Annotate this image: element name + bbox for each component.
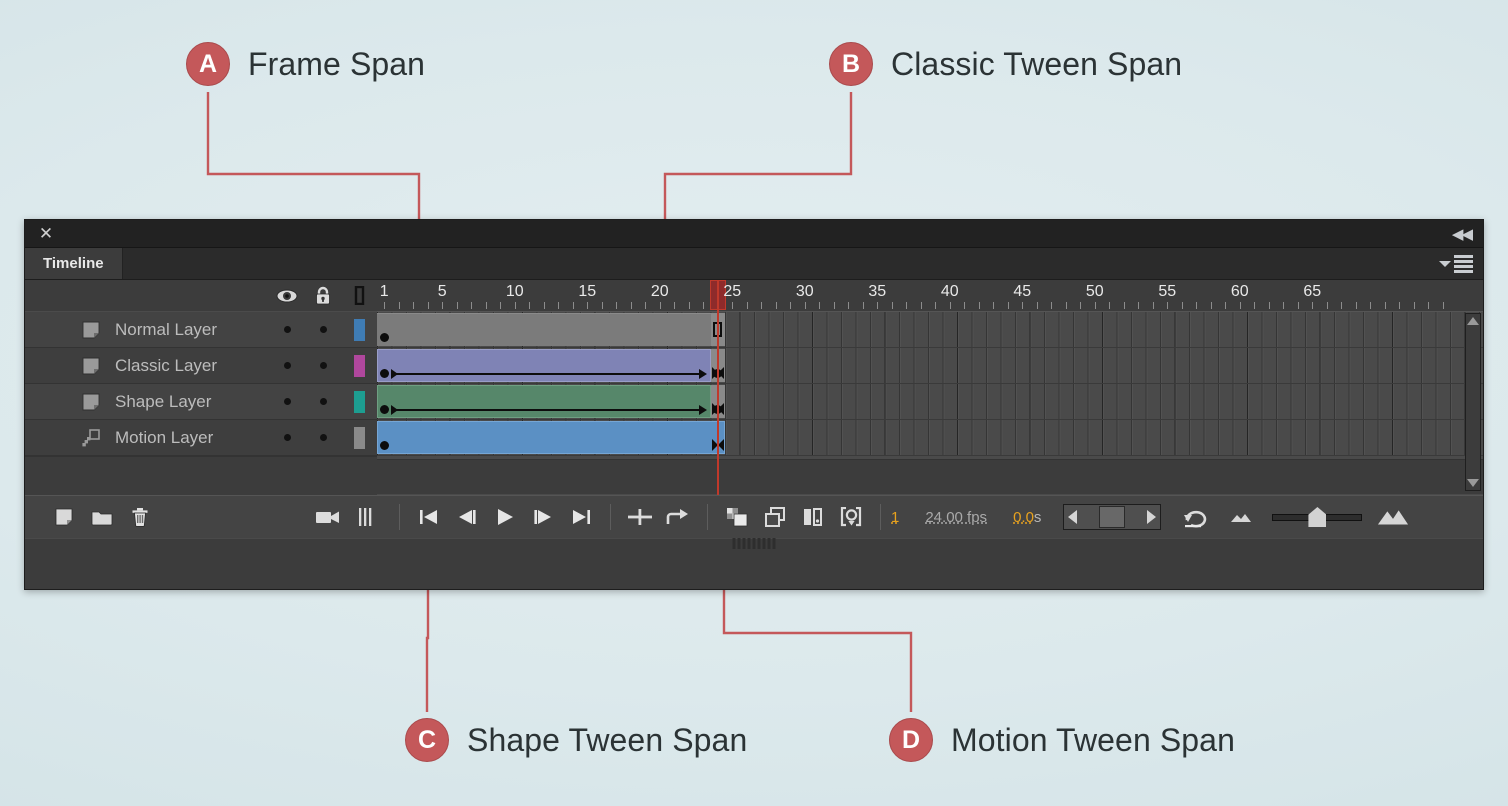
layer-name: Normal Layer <box>105 320 269 340</box>
layer-page-icon <box>77 356 105 376</box>
ruler-tick <box>805 302 806 309</box>
keyframe-marker[interactable] <box>380 369 389 378</box>
ruler-tick <box>544 302 545 309</box>
ruler-tick <box>1182 302 1183 309</box>
ruler-tick <box>500 302 501 309</box>
hamburger-icon <box>1454 255 1473 273</box>
ruler-tick <box>950 302 951 309</box>
layer-rows: Normal Layer Classic Layer Shape Layer M… <box>25 312 377 456</box>
callout-b-badge: B <box>829 42 873 86</box>
close-icon[interactable]: ✕ <box>37 225 55 243</box>
eye-icon[interactable] <box>269 289 305 303</box>
ruler-tick <box>1443 302 1444 309</box>
chevron-down-icon <box>1439 261 1451 267</box>
ruler-tick <box>1312 302 1313 309</box>
toolbar-divider-4 <box>880 504 881 530</box>
ruler-tick <box>1080 302 1081 309</box>
camera-tools-group <box>309 496 385 538</box>
tab-timeline-label: Timeline <box>43 255 104 272</box>
ruler-tick <box>1066 302 1067 309</box>
play-icon[interactable] <box>489 501 521 533</box>
scroll-up-arrow-icon[interactable] <box>1467 317 1479 325</box>
keyframe-marker[interactable] <box>380 441 389 450</box>
frame-row[interactable] <box>377 420 1483 456</box>
ruler-tick <box>529 302 530 309</box>
ruler-tick <box>1109 302 1110 309</box>
layers-empty-area <box>25 456 377 491</box>
ruler-tick <box>1414 302 1415 309</box>
outline-icon[interactable] <box>341 286 377 305</box>
callout-c-badge: C <box>405 718 449 762</box>
ruler-tick <box>1124 302 1125 309</box>
ruler-label: 1 <box>380 283 389 301</box>
ruler-tick <box>1095 302 1096 309</box>
layer-motion-icon <box>77 428 105 448</box>
span-motion[interactable] <box>377 421 725 454</box>
ruler-tick <box>834 302 835 309</box>
ruler-tick <box>384 302 385 309</box>
ruler-tick <box>877 302 878 309</box>
callout-b: B Classic Tween Span <box>829 42 1182 86</box>
keyframe-marker[interactable] <box>380 333 389 342</box>
panel-resize-strip[interactable] <box>25 538 1483 552</box>
panel-titlebar: ✕ ◀◀ <box>25 220 1483 248</box>
ruler-tick <box>1225 302 1226 309</box>
ruler-tick <box>1327 302 1328 309</box>
tab-timeline[interactable]: Timeline <box>25 248 123 279</box>
tween-arrow <box>391 369 707 379</box>
ruler-tick <box>1138 302 1139 309</box>
ruler-label: 65 <box>1303 283 1321 301</box>
layer-row[interactable]: Classic Layer <box>25 348 377 384</box>
panel-tabbar: Timeline <box>25 248 1483 280</box>
ruler-label: 30 <box>796 283 814 301</box>
ruler-label: 25 <box>723 283 741 301</box>
ruler-tick <box>1211 302 1212 309</box>
ruler-tick <box>863 302 864 309</box>
ruler-tick <box>921 302 922 309</box>
ruler-tick <box>616 302 617 309</box>
step-forward-one-frame-icon[interactable] <box>527 501 559 533</box>
onion-skin-icon[interactable] <box>721 501 753 533</box>
playhead[interactable] <box>717 280 719 495</box>
ruler-tick <box>442 302 443 309</box>
layer-visibility-toggle[interactable] <box>269 398 305 405</box>
frames-column: 15101520253035404550556065 <box>377 280 1483 495</box>
ruler-label: 55 <box>1158 283 1176 301</box>
edit-multiple-frames-icon[interactable] <box>797 501 829 533</box>
ruler-label: 5 <box>438 283 447 301</box>
frame-tools-group <box>621 496 697 538</box>
layer-lock-toggle[interactable] <box>305 326 341 333</box>
callout-a-badge: A <box>186 42 230 86</box>
ruler-label: 50 <box>1086 283 1104 301</box>
ruler-tick <box>1240 302 1241 309</box>
layer-tools-group <box>45 496 159 538</box>
zoom-slider-thumb[interactable] <box>1308 507 1326 527</box>
layer-outline-color[interactable] <box>341 319 377 341</box>
fps-value[interactable]: 24.00 fps <box>925 509 987 526</box>
ruler-tick <box>602 302 603 309</box>
ruler-tick <box>1008 302 1009 309</box>
panel-menu-icon[interactable] <box>1439 255 1473 273</box>
layer-row[interactable]: Motion Layer <box>25 420 377 456</box>
scroll-down-arrow-icon[interactable] <box>1467 479 1479 487</box>
span-frame[interactable] <box>377 313 711 346</box>
ruler-tick <box>1167 302 1168 309</box>
ruler-label: 15 <box>578 283 596 301</box>
ruler-tick <box>1051 302 1052 309</box>
scrubber-group <box>1063 496 1161 538</box>
timeline-zoom-slider[interactable] <box>1272 505 1362 529</box>
ruler-tick <box>1022 302 1023 309</box>
frame-row[interactable] <box>377 348 1483 384</box>
layer-row[interactable]: Shape Layer <box>25 384 377 420</box>
go-to-last-frame-icon[interactable] <box>565 501 597 533</box>
ruler-tick <box>515 302 516 309</box>
frame-row[interactable] <box>377 384 1483 420</box>
ruler-tick <box>848 302 849 309</box>
ruler-tick <box>1428 302 1429 309</box>
ruler-tick <box>645 302 646 309</box>
ruler-tick <box>747 302 748 309</box>
layers-column: Normal Layer Classic Layer Shape Layer M… <box>25 280 377 495</box>
center-frame-icon[interactable] <box>624 501 656 533</box>
new-folder-icon[interactable] <box>86 501 118 533</box>
timeline-scrubber[interactable] <box>1063 504 1161 530</box>
tween-arrow <box>391 405 707 415</box>
ruler-tick <box>1037 302 1038 309</box>
ruler-tick <box>689 302 690 309</box>
current-frame-value[interactable]: 1 <box>891 509 899 526</box>
toolbar-divider-1 <box>399 504 400 530</box>
ruler-tick <box>1370 302 1371 309</box>
ruler-tick <box>558 302 559 309</box>
ruler-tick <box>1298 302 1299 309</box>
callout-d: D Motion Tween Span <box>889 718 1235 762</box>
lock-icon[interactable] <box>305 286 341 305</box>
panel-body: Normal Layer Classic Layer Shape Layer M… <box>25 280 1483 495</box>
collapse-double-chevron-icon[interactable]: ◀◀ <box>1452 225 1471 243</box>
ruler-tick <box>486 302 487 309</box>
timeline-panel: ✕ ◀◀ Timeline <box>24 219 1484 590</box>
scrub-right-icon[interactable] <box>1147 510 1156 524</box>
layer-page-icon <box>77 392 105 412</box>
ruler-tick <box>573 302 574 309</box>
go-to-first-frame-icon[interactable] <box>413 501 445 533</box>
layer-lock-toggle[interactable] <box>305 362 341 369</box>
layer-outline-color[interactable] <box>341 391 377 413</box>
layers-column-header <box>25 280 377 312</box>
layer-outline-color[interactable] <box>341 427 377 449</box>
callout-b-label: Classic Tween Span <box>891 46 1182 83</box>
ruler-tick <box>1283 302 1284 309</box>
ruler-tick <box>471 302 472 309</box>
frames-empty-area <box>377 459 1483 494</box>
layer-lock-toggle[interactable] <box>305 434 341 441</box>
ruler-tick <box>1385 302 1386 309</box>
step-back-one-frame-icon[interactable] <box>451 501 483 533</box>
trash-icon[interactable] <box>124 501 156 533</box>
zoom-group <box>1177 496 1412 538</box>
status-group: 1 24.00 fps 0.0s <box>891 496 1041 538</box>
ruler-tick <box>674 302 675 309</box>
ruler-tick <box>703 302 704 309</box>
ruler-tick <box>399 302 400 309</box>
ruler-tick <box>892 302 893 309</box>
frame-rows <box>377 312 1483 459</box>
ruler-tick <box>935 302 936 309</box>
callout-d-label: Motion Tween Span <box>951 722 1235 759</box>
ruler-tick <box>428 302 429 309</box>
ruler-tick <box>631 302 632 309</box>
scrub-knob[interactable] <box>1099 506 1125 528</box>
ruler-tick <box>1254 302 1255 309</box>
timeline-ruler[interactable]: 15101520253035404550556065 <box>377 280 1483 312</box>
ruler-tick <box>1269 302 1270 309</box>
elapsed-time-unit: s <box>1034 509 1042 526</box>
ruler-tick <box>979 302 980 309</box>
ruler-label: 20 <box>651 283 669 301</box>
camera-icon[interactable] <box>312 501 344 533</box>
ruler-tick <box>776 302 777 309</box>
layer-row[interactable]: Normal Layer <box>25 312 377 348</box>
ruler-label: 40 <box>941 283 959 301</box>
vertical-scrollbar[interactable] <box>1465 313 1481 491</box>
modify-onion-markers-icon[interactable] <box>835 501 867 533</box>
layer-lock-toggle[interactable] <box>305 398 341 405</box>
ruler-tick <box>660 302 661 309</box>
layer-visibility-toggle[interactable] <box>269 434 305 441</box>
callout-d-badge: D <box>889 718 933 762</box>
callout-c: C Shape Tween Span <box>405 718 747 762</box>
ruler-tick <box>790 302 791 309</box>
callout-a-label: Frame Span <box>248 46 425 83</box>
toolbar-divider-3 <box>707 504 708 530</box>
ruler-tick <box>1153 302 1154 309</box>
ruler-label: 60 <box>1231 283 1249 301</box>
ruler-tick <box>732 302 733 309</box>
ruler-tick <box>587 302 588 309</box>
ruler-tick <box>1399 302 1400 309</box>
layer-outline-color[interactable] <box>341 355 377 377</box>
ruler-tick <box>819 302 820 309</box>
ruler-tick <box>993 302 994 309</box>
layer-name: Motion Layer <box>105 428 269 448</box>
elapsed-time[interactable]: 0.0s <box>1013 509 1041 526</box>
layer-depth-icon[interactable] <box>350 501 382 533</box>
zoom-out-small-mountain-icon[interactable] <box>1225 501 1257 533</box>
ruler-tick <box>413 302 414 309</box>
ruler-tick <box>1341 302 1342 309</box>
playback-group <box>410 496 600 538</box>
callout-a: A Frame Span <box>186 42 425 86</box>
new-layer-icon[interactable] <box>48 501 80 533</box>
ruler-label: 45 <box>1013 283 1031 301</box>
onion-skin-group <box>718 496 870 538</box>
ruler-label: 35 <box>868 283 886 301</box>
scrub-left-icon[interactable] <box>1068 510 1077 524</box>
layer-page-icon <box>77 320 105 340</box>
layer-visibility-toggle[interactable] <box>269 362 305 369</box>
onion-skin-outlines-icon[interactable] <box>759 501 791 533</box>
ruler-tick <box>906 302 907 309</box>
elapsed-time-value: 0.0 <box>1013 509 1034 526</box>
resize-grip-icon[interactable] <box>733 538 776 549</box>
ruler-tick <box>964 302 965 309</box>
toolbar-divider-2 <box>610 504 611 530</box>
reset-timeline-icon[interactable] <box>1180 501 1212 533</box>
timeline-toolbar: 1 24.00 fps 0.0s <box>25 495 1483 538</box>
frame-row[interactable] <box>377 312 1483 348</box>
ruler-label: 10 <box>506 283 524 301</box>
ruler-tick <box>1356 302 1357 309</box>
layer-name: Classic Layer <box>105 356 269 376</box>
ruler-tick <box>1196 302 1197 309</box>
keyframe-marker[interactable] <box>380 405 389 414</box>
ruler-tick <box>761 302 762 309</box>
layer-name: Shape Layer <box>105 392 269 412</box>
loop-playback-icon[interactable] <box>662 501 694 533</box>
zoom-in-large-mountain-icon[interactable] <box>1377 501 1409 533</box>
layer-visibility-toggle[interactable] <box>269 326 305 333</box>
callout-c-label: Shape Tween Span <box>467 722 747 759</box>
ruler-tick <box>457 302 458 309</box>
